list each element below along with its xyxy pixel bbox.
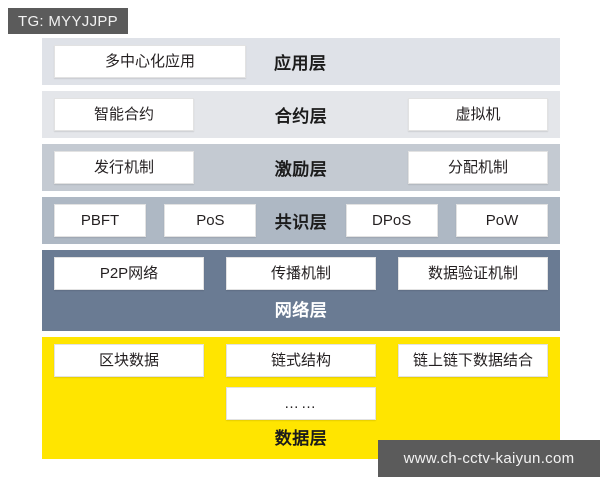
layer-band-application: 多中心化应用 应用层 [42, 38, 560, 85]
watermark-top-left: TG: MYYJJPP [8, 8, 128, 34]
chip-dpos[interactable]: DPoS [346, 204, 438, 237]
chip-ellipsis[interactable]: …… [226, 387, 376, 420]
chip-smart-contract[interactable]: 智能合约 [54, 98, 194, 131]
layer-title-network: 网络层 [54, 296, 548, 321]
chip-p2p-network[interactable]: P2P网络 [54, 257, 204, 290]
chip-decentralized-application[interactable]: 多中心化应用 [54, 45, 246, 78]
chip-pbft[interactable]: PBFT [54, 204, 146, 237]
layer-row-application: 多中心化应用 应用层 [54, 45, 548, 78]
layer-title-application: 应用层 [274, 49, 327, 74]
chip-chain-structure[interactable]: 链式结构 [226, 344, 376, 377]
layer-band-contract: 智能合约 合约层 虚拟机 [42, 91, 560, 138]
layer-row-incentive: 发行机制 激励层 分配机制 [54, 151, 548, 184]
layer-band-incentive: 发行机制 激励层 分配机制 [42, 144, 560, 191]
layer-row-contract: 智能合约 合约层 虚拟机 [54, 98, 548, 131]
blockchain-layer-stack: 多中心化应用 应用层 智能合约 合约层 虚拟机 发行机制 激励层 分配机制 PB… [42, 38, 560, 465]
layer-band-network: P2P网络 传播机制 数据验证机制 网络层 [42, 250, 560, 331]
chip-block-data[interactable]: 区块数据 [54, 344, 204, 377]
chip-data-verification-mechanism[interactable]: 数据验证机制 [398, 257, 548, 290]
layer-title-incentive: 激励层 [275, 155, 328, 180]
layer-row-network: P2P网络 传播机制 数据验证机制 [54, 257, 548, 290]
layer-title-consensus: 共识层 [275, 208, 328, 233]
chip-pow[interactable]: PoW [456, 204, 548, 237]
layer-band-consensus: PBFT PoS 共识层 DPoS PoW [42, 197, 560, 244]
layer-row-consensus: PBFT PoS 共识层 DPoS PoW [54, 204, 548, 237]
chip-propagation-mechanism[interactable]: 传播机制 [226, 257, 376, 290]
chip-issuance-mechanism[interactable]: 发行机制 [54, 151, 194, 184]
chip-distribution-mechanism[interactable]: 分配机制 [408, 151, 548, 184]
layer-row-data-secondary: …… [54, 387, 548, 420]
chip-virtual-machine[interactable]: 虚拟机 [408, 98, 548, 131]
chip-pos[interactable]: PoS [164, 204, 256, 237]
layer-title-contract: 合约层 [275, 102, 328, 127]
layer-row-data: 区块数据 链式结构 链上链下数据结合 [54, 344, 548, 377]
watermark-bottom-right: www.ch-cctv-kaiyun.com [378, 440, 600, 477]
chip-on-off-chain-data-combination[interactable]: 链上链下数据结合 [398, 344, 548, 377]
